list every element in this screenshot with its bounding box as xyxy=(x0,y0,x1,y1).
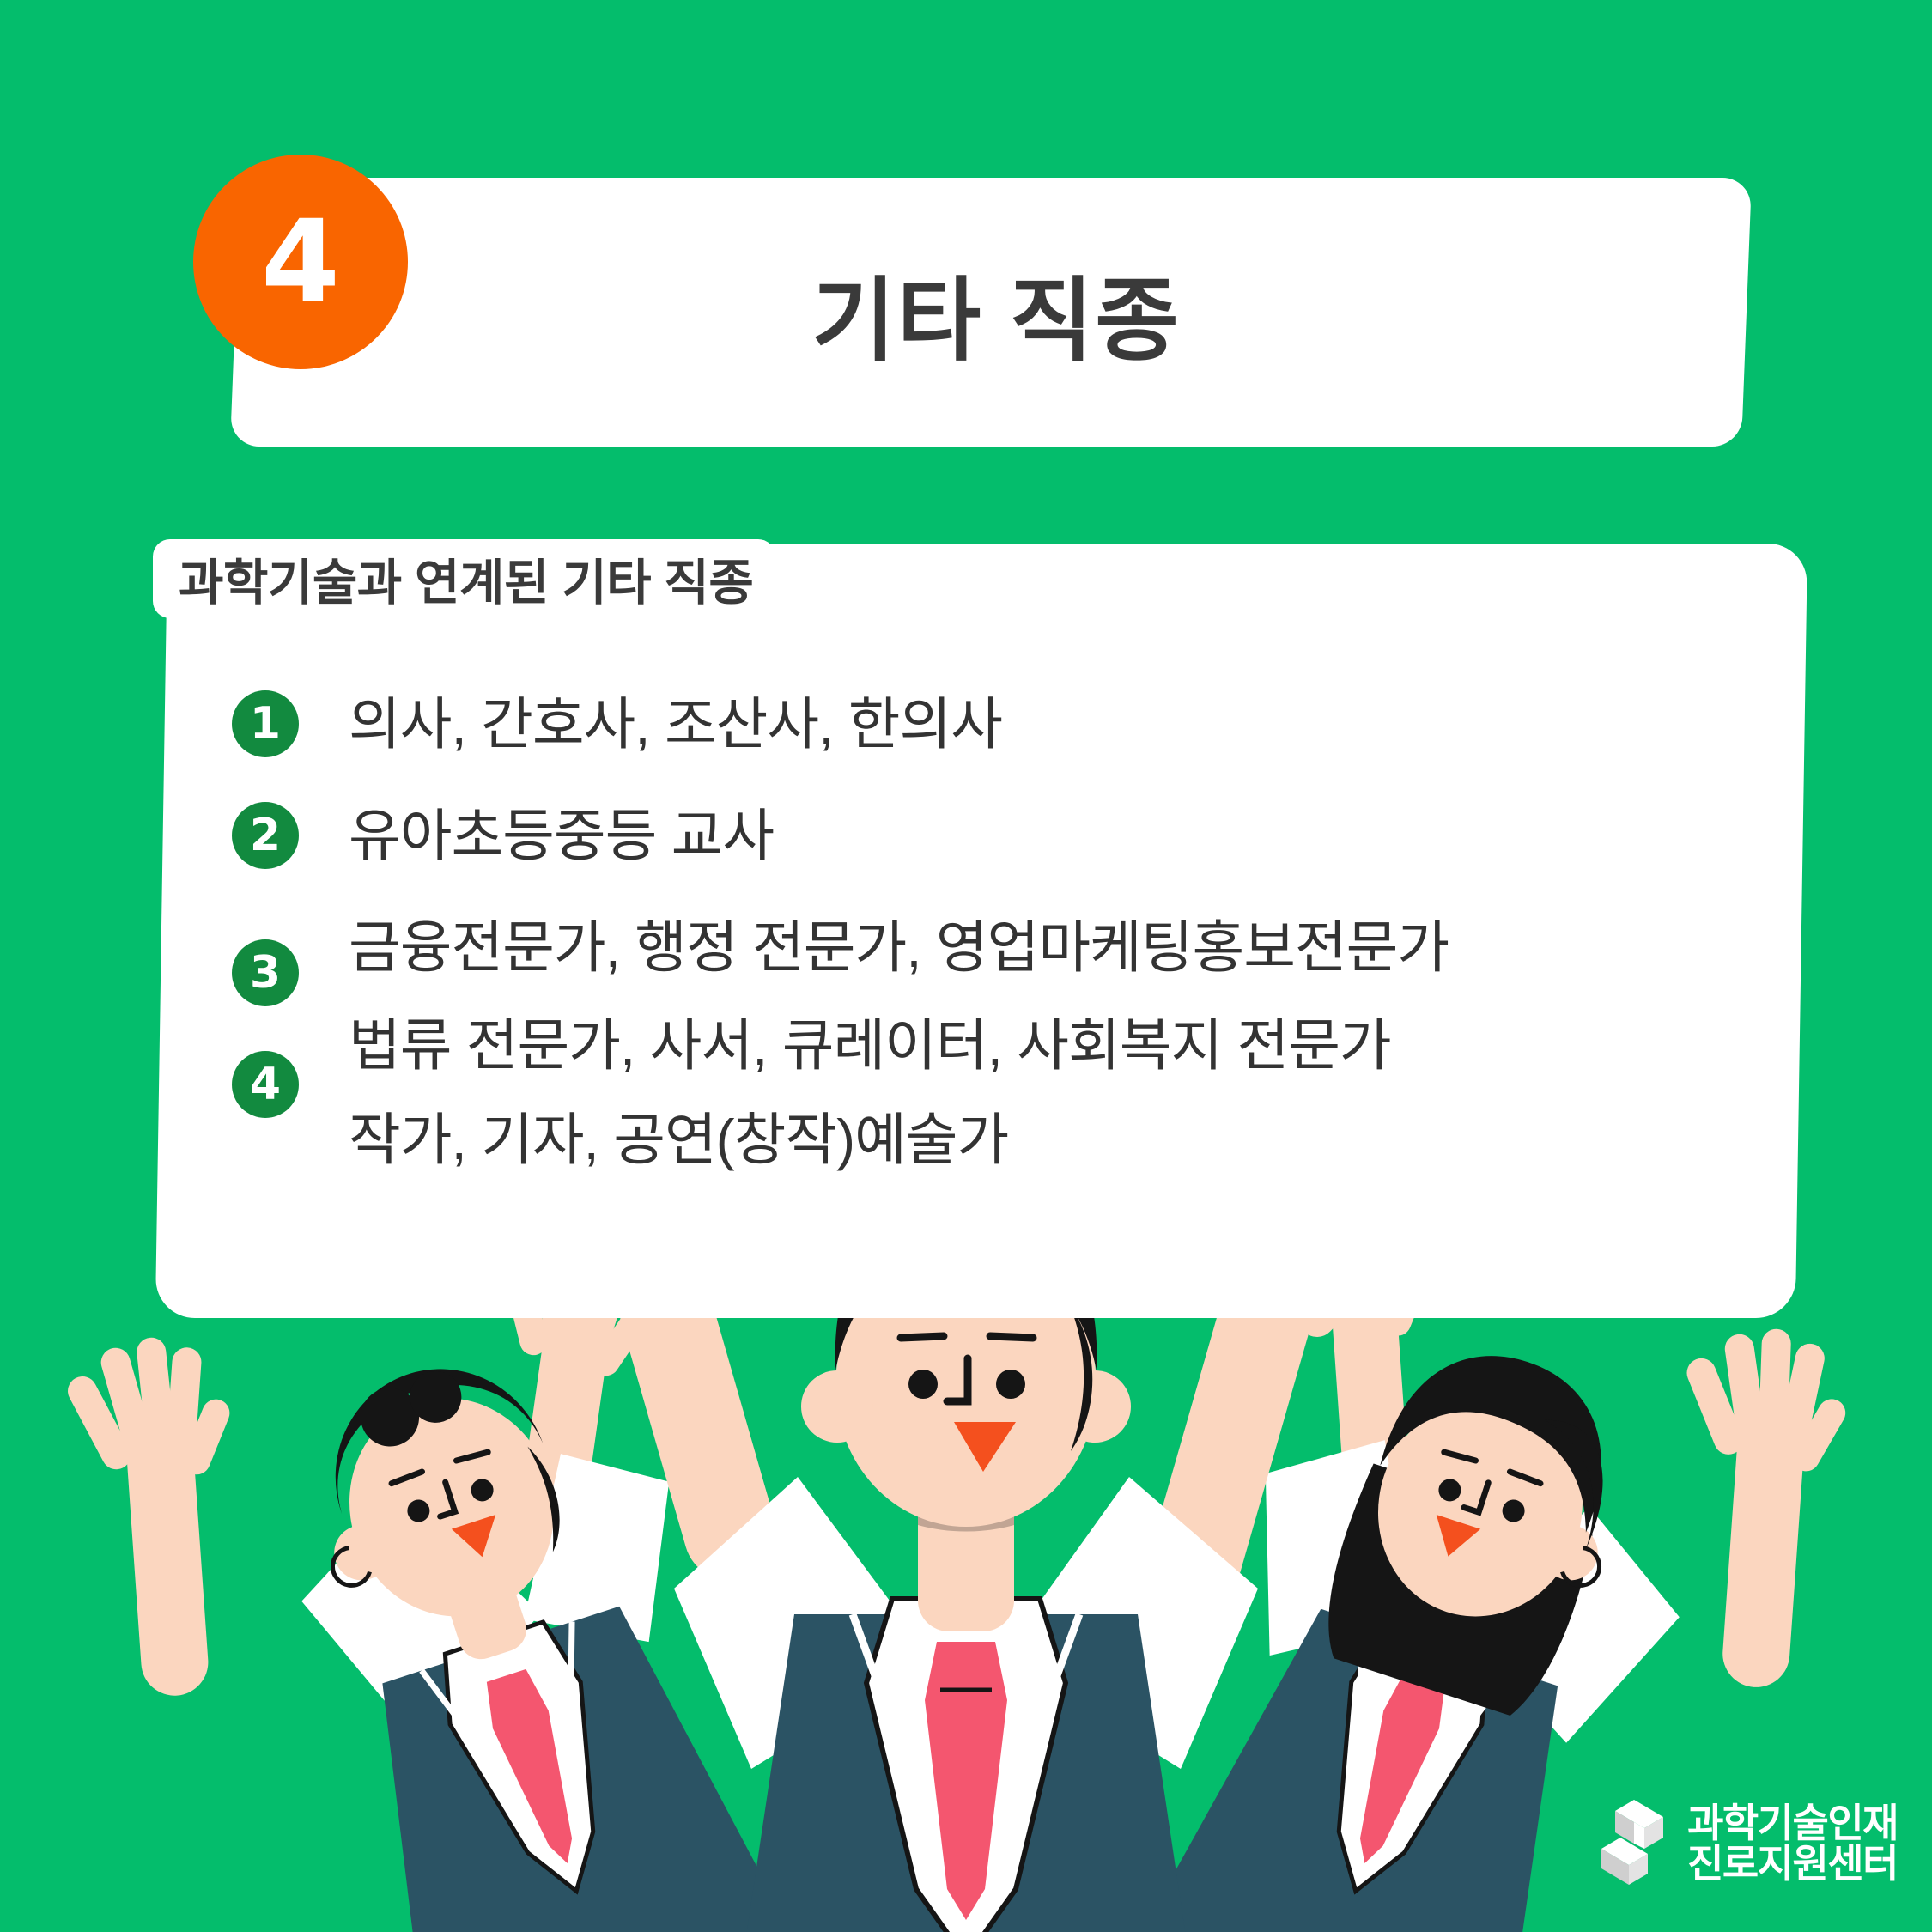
organization-logo: 과학기술인재 진로지원센터 xyxy=(1593,1796,1898,1891)
logo-line-2: 진로지원센터 xyxy=(1687,1844,1898,1884)
section-tab: 과학기술과 연계된 기타 직종 xyxy=(153,539,775,618)
list-number-badge: 2 xyxy=(232,802,299,869)
list-item-label: 법류 전문가, 사서, 큐레이터, 사회복지 전문가 xyxy=(349,999,1391,1082)
list-number-badge: 4 xyxy=(232,1051,299,1118)
list-number-badge: 3 xyxy=(232,939,299,1006)
list-item-label: 작가, 기자, 공연(창작)예술가 xyxy=(349,1094,1008,1176)
interlocking-blocks-icon xyxy=(1593,1796,1672,1891)
logo-line-1: 과학기술인재 xyxy=(1687,1803,1898,1844)
list-item-label: 금융전문가, 행정 전문가, 영업마케팅홍보전문가 xyxy=(349,902,1449,984)
infographic-card: 기타 직종 4 과학기술과 연계된 기타 직종 1 의사, 간호사, 조산사, … xyxy=(0,0,1932,1932)
student-left xyxy=(0,1228,885,1932)
student-center xyxy=(486,1228,1423,1932)
logo-text: 과학기술인재 진로지원센터 xyxy=(1687,1803,1898,1884)
page-title: 기타 직종 xyxy=(258,178,1735,447)
list-item-label: 유아초등중등 교사 xyxy=(349,790,774,872)
list-number-badge: 1 xyxy=(232,690,299,757)
section-tab-label: 과학기술과 연계된 기타 직종 xyxy=(179,544,753,614)
list-item-label: 의사, 간호사, 조산사, 한의사 xyxy=(349,678,1002,761)
step-number-badge: 4 xyxy=(193,155,408,369)
